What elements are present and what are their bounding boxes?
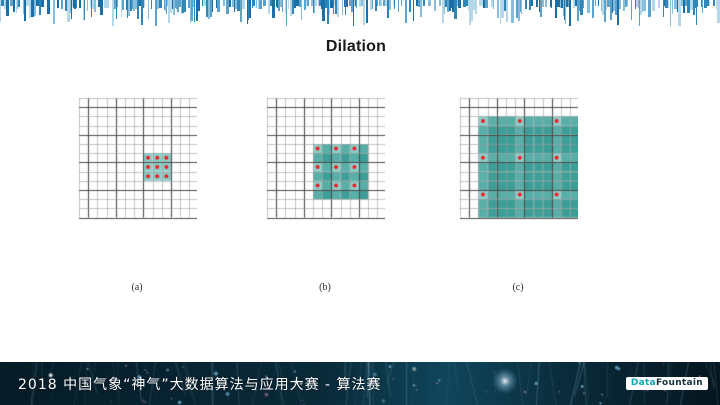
barcode-bar <box>619 0 621 9</box>
barcode-bar <box>301 0 302 20</box>
barcode-bar <box>531 0 533 6</box>
barcode-bar <box>672 0 673 14</box>
grid-b-canvas <box>265 96 385 276</box>
footer-banner: 2018 中国气象“神气”大数据算法与应用大赛 - 算法赛 DataFounta… <box>0 362 720 405</box>
logo-part-fountain: Fountain <box>656 378 703 388</box>
barcode-bar <box>106 0 109 8</box>
barcode-bar <box>405 0 407 23</box>
barcode-bar <box>709 0 710 6</box>
barcode-bar <box>242 0 245 9</box>
barcode-bar <box>458 0 461 8</box>
caption-b: (b) <box>265 282 385 293</box>
grid-c <box>458 96 578 276</box>
barcode-bar <box>409 0 411 12</box>
page-title-text: Dilation <box>326 38 386 56</box>
barcode-bar <box>389 0 391 10</box>
barcode-bar <box>18 0 20 7</box>
barcode-bar <box>100 0 103 15</box>
barcode-bar <box>598 0 599 6</box>
barcode-bar <box>87 0 88 11</box>
barcode-bar <box>668 0 669 8</box>
barcode-bar <box>592 0 594 18</box>
panel-c: (c) <box>458 96 578 276</box>
caption-a: (a) <box>77 282 197 293</box>
datafountain-logo: DataFountain <box>626 377 708 391</box>
barcode-bar <box>631 0 632 20</box>
slide-canvas: Dilation (a) (b) (c) 2018 中国气象“神气”大数据算法与… <box>0 0 720 405</box>
barcode-bar <box>485 0 488 8</box>
barcode-bar <box>57 0 59 8</box>
barcode-bar <box>401 0 402 6</box>
barcode-bar <box>263 0 266 6</box>
barcode-bar <box>356 0 357 8</box>
grid-a-canvas <box>77 96 197 276</box>
barcode-bar <box>84 0 85 20</box>
barcode-bar <box>583 0 584 8</box>
caption-c: (c) <box>458 282 578 293</box>
barcode-bar <box>272 0 275 18</box>
barcode-bar <box>282 0 283 12</box>
barcode-bar <box>413 0 414 21</box>
page-title: Dilation <box>0 38 720 56</box>
barcode-bar <box>259 0 262 9</box>
barcode-bar <box>377 0 378 6</box>
barcode-bar <box>511 0 514 23</box>
panel-a: (a) <box>77 96 197 276</box>
barcode-bar <box>122 0 124 10</box>
header-barcode-strip <box>0 0 720 28</box>
barcode-bar <box>525 0 527 9</box>
banner-title: 2018 中国气象“神气”大数据算法与应用大赛 - 算法赛 <box>18 374 382 394</box>
barcode-bar <box>587 0 590 13</box>
barcode-bar <box>47 0 50 14</box>
barcode-bar <box>420 0 422 17</box>
barcode-bar <box>307 0 309 6</box>
barcode-bar <box>366 0 368 23</box>
barcode-bar <box>6 0 9 16</box>
barcode-bar <box>652 0 655 11</box>
barcode-bar <box>144 0 145 7</box>
barcode-bar <box>315 0 317 6</box>
barcode-bar <box>194 0 195 22</box>
barcode-bar <box>542 0 544 7</box>
barcode-bar <box>697 0 698 7</box>
barcode-bar <box>702 0 703 13</box>
grid-a <box>77 96 197 276</box>
barcode-bar <box>670 0 671 26</box>
logo-part-data: Data <box>631 378 656 388</box>
barcode-bar <box>288 0 289 9</box>
barcode-bar <box>253 0 255 6</box>
barcode-bar <box>569 0 571 26</box>
barcode-bar <box>76 0 77 8</box>
barcode-bar <box>423 0 425 6</box>
barcode-bar <box>713 0 715 6</box>
barcode-bar <box>434 0 436 11</box>
barcode-bar <box>658 0 660 8</box>
barcode-bar <box>363 0 365 25</box>
barcode-bar <box>41 0 44 7</box>
panel-b: (b) <box>265 96 385 276</box>
barcode-bar <box>643 0 646 11</box>
barcode-bar <box>117 0 118 7</box>
barcode-bar <box>398 0 399 12</box>
barcode-bar <box>184 0 186 12</box>
barcode-bar <box>151 0 152 9</box>
barcode-bar <box>159 0 162 8</box>
barcode-bar <box>493 0 494 9</box>
barcode-bar <box>545 0 547 7</box>
barcode-bar <box>439 0 441 6</box>
barcode-bar <box>428 0 431 6</box>
barcode-bar <box>229 0 231 7</box>
barcode-bar <box>394 0 395 9</box>
barcode-bar <box>497 0 499 18</box>
barcode-bar <box>521 0 522 14</box>
barcode-bar <box>475 0 477 14</box>
barcode-bar <box>94 0 96 12</box>
barcode-bar <box>337 0 339 17</box>
barcode-bar <box>256 0 257 8</box>
barcode-bar <box>595 0 596 6</box>
barcode-bar <box>506 0 508 22</box>
barcode-bar <box>627 0 628 6</box>
barcode-bar <box>79 0 81 8</box>
barcode-bar <box>53 0 55 24</box>
barcode-bar <box>212 0 213 12</box>
dilation-figure: (a) (b) (c) <box>0 96 720 306</box>
barcode-bar <box>536 0 538 7</box>
barcode-bar <box>286 0 287 26</box>
barcode-bar <box>223 0 225 6</box>
barcode-bar <box>342 0 343 15</box>
grid-b <box>265 96 385 276</box>
barcode-bar <box>249 0 251 18</box>
barcode-bar <box>148 0 149 19</box>
barcode-bar <box>648 0 651 17</box>
barcode-bar <box>13 0 15 12</box>
grid-c-canvas <box>458 96 578 276</box>
barcode-bar <box>551 0 552 8</box>
barcode-bar <box>217 0 220 12</box>
barcode-bar <box>346 0 348 7</box>
barcode-bar <box>61 0 63 9</box>
barcode-bar <box>198 0 200 11</box>
barcode-bar <box>381 0 382 6</box>
barcode-bar <box>372 0 373 9</box>
